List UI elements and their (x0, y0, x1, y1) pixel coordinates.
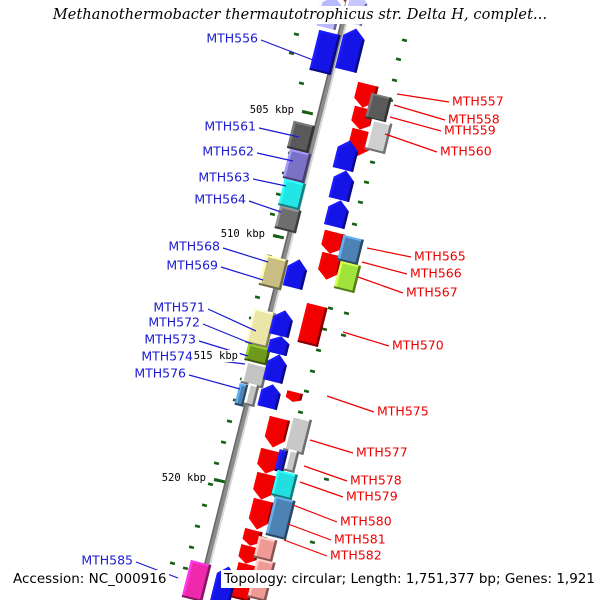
tick-mark (294, 32, 299, 36)
genome-viewer[interactable]: Methanothermobacter thermautotrophicus s… (0, 0, 600, 600)
leader-line (261, 40, 313, 60)
gene-label-mth572[interactable]: MTH572 (148, 315, 200, 330)
genes-layer[interactable] (182, 0, 393, 600)
leader-line (288, 524, 331, 540)
tick-mark (364, 180, 369, 184)
tick-mark (189, 545, 194, 549)
leader-line (257, 153, 293, 161)
gene-label-mth581[interactable]: MTH581 (334, 532, 386, 547)
leader-line (367, 248, 411, 257)
leader-line (385, 134, 437, 152)
ruler-label: 505 kbp (248, 104, 296, 116)
ruler-tick-mark (273, 234, 284, 240)
tick-mark (270, 212, 275, 216)
leader-line (284, 540, 327, 556)
tick-mark (358, 200, 363, 204)
ruler-label: 515 kbp (192, 350, 240, 362)
gene-label-mth564[interactable]: MTH564 (194, 192, 246, 207)
gene-outer-8[interactable] (329, 168, 357, 202)
gene-label-mth556[interactable]: MTH556 (206, 31, 258, 46)
gene-outer-1[interactable] (314, 0, 344, 30)
gene-label-mth560[interactable]: MTH560 (440, 144, 492, 159)
gene-label-mth570[interactable]: MTH570 (392, 338, 444, 353)
tick-mark (183, 566, 188, 570)
gene-label-mth568[interactable]: MTH568 (168, 239, 220, 254)
gene-label-mth559[interactable]: MTH559 (444, 123, 496, 138)
gene-label-mth566[interactable]: MTH566 (410, 266, 462, 281)
tick-mark (392, 78, 397, 82)
gene-label-mth574[interactable]: MTH574 (141, 349, 193, 364)
tick-mark (310, 540, 315, 544)
gene-label-mth575[interactable]: MTH575 (377, 404, 429, 419)
tick-mark (352, 222, 357, 226)
leader-line (253, 179, 286, 186)
tick-mark (298, 410, 303, 414)
leader-line (208, 309, 256, 331)
tick-mark (170, 561, 175, 565)
leader-line (362, 262, 407, 274)
gene-label-mth577[interactable]: MTH577 (356, 445, 408, 460)
tick-mark (370, 160, 375, 164)
leader-line (293, 505, 337, 522)
tick-mark (310, 369, 315, 373)
gene-inner-7[interactable] (278, 179, 306, 211)
gene-label-mth567[interactable]: MTH567 (406, 285, 458, 300)
ruler-label: 520 kbp (160, 472, 208, 484)
tick-mark (304, 389, 309, 393)
gene-label-mth557[interactable]: MTH557 (452, 94, 504, 109)
tick-mark (322, 327, 327, 331)
leader-line (203, 324, 252, 344)
tick-mark (221, 440, 226, 444)
leader-line (343, 332, 389, 346)
gene-outer-15[interactable] (271, 470, 298, 500)
gene-label-mth576[interactable]: MTH576 (134, 366, 186, 381)
gene-label-mth561[interactable]: MTH561 (204, 119, 256, 134)
tick-mark (208, 482, 213, 486)
tick-mark (402, 38, 407, 42)
tick-mark (299, 81, 304, 85)
tick-mark (227, 419, 232, 423)
gene-outer-9[interactable] (324, 198, 351, 229)
gene-inner-23[interactable] (285, 390, 303, 404)
gene-label-mth578[interactable]: MTH578 (350, 473, 402, 488)
ruler-tick-mark (302, 110, 313, 116)
gene-label-mth573[interactable]: MTH573 (144, 332, 196, 347)
tick-mark (214, 461, 219, 465)
tick-mark (316, 348, 321, 352)
leader-line (390, 117, 441, 131)
gene-label-mth562[interactable]: MTH562 (202, 144, 254, 159)
tick-mark (152, 576, 157, 580)
gene-outer-3[interactable] (309, 30, 340, 75)
gene-inner-31[interactable] (182, 560, 212, 600)
gene-label-mth563[interactable]: MTH563 (198, 170, 250, 185)
gene-label-mth582[interactable]: MTH582 (330, 548, 382, 563)
ruler-tick-mark (214, 478, 225, 484)
gene-label-mth565[interactable]: MTH565 (414, 249, 466, 264)
leader-line (223, 248, 268, 262)
leader-line (394, 105, 445, 120)
leader-line (249, 201, 281, 212)
gene-label-mth585[interactable]: MTH585 (81, 553, 133, 568)
gene-label-mth579[interactable]: MTH579 (346, 489, 398, 504)
tick-mark (396, 57, 401, 61)
ruler-label: 510 kbp (219, 228, 267, 240)
gene-label-mth571[interactable]: MTH571 (153, 300, 205, 315)
leader-line (221, 267, 263, 280)
tick-mark (195, 524, 200, 528)
gene-label-mth580[interactable]: MTH580 (340, 514, 392, 529)
leader-line (327, 396, 374, 412)
gene-inner-13[interactable] (297, 303, 327, 347)
leader-line (397, 94, 449, 102)
tick-mark (202, 503, 207, 507)
leader-line (310, 440, 353, 453)
genome-graphics-canvas (0, 0, 600, 600)
tick-mark (341, 333, 346, 337)
tick-mark (328, 306, 333, 310)
tick-mark (324, 477, 329, 481)
leader-line (300, 482, 343, 497)
leader-line (189, 375, 240, 389)
tick-mark (344, 311, 349, 315)
leader-line (358, 277, 403, 293)
gene-label-mth569[interactable]: MTH569 (166, 258, 218, 273)
tick-mark (255, 295, 260, 299)
